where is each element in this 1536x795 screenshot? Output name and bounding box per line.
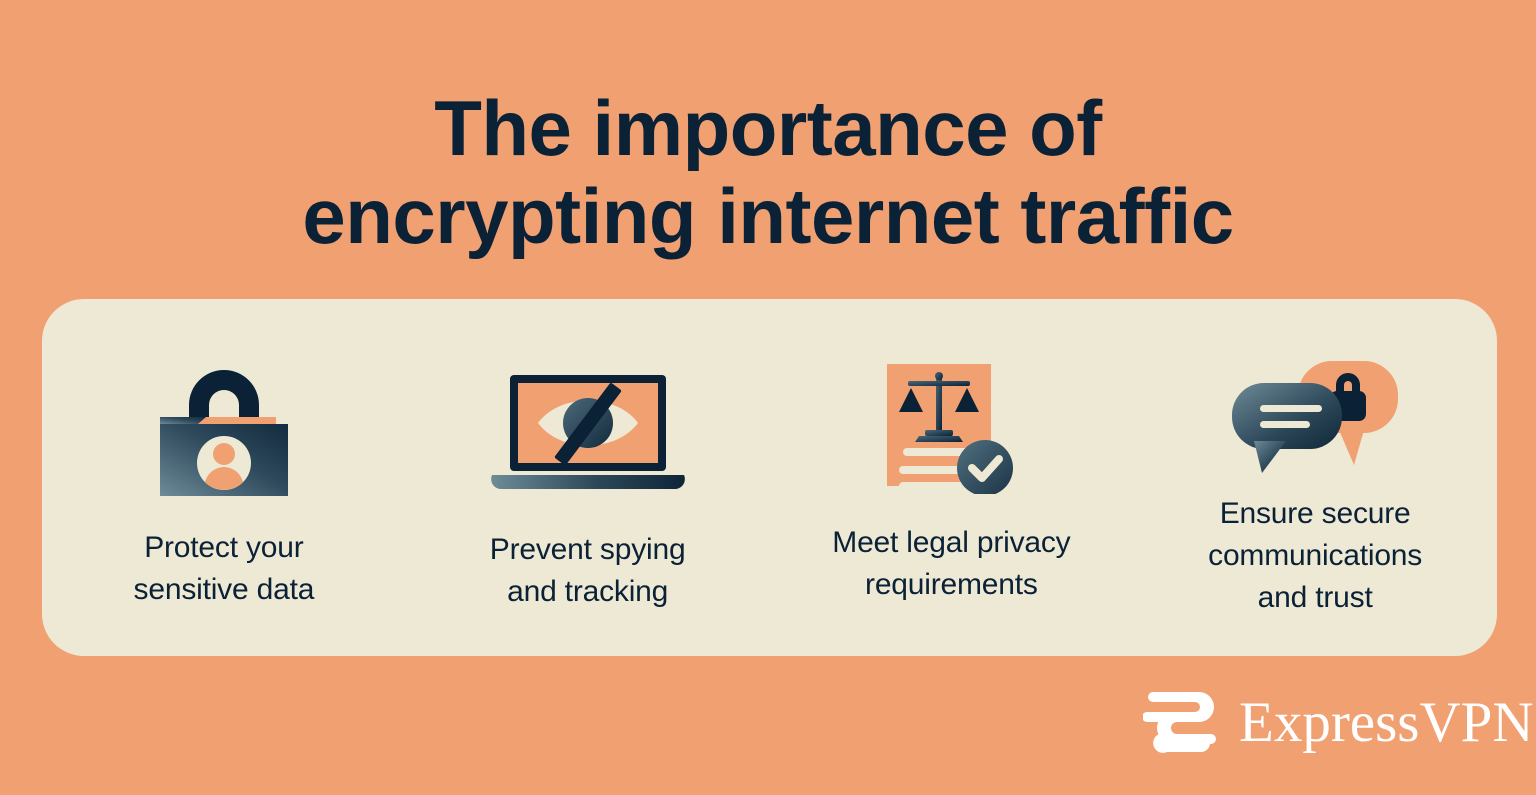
- expressvpn-wordmark: ExpressVPN: [1239, 694, 1534, 751]
- laptop-eye-slash-icon: [406, 371, 770, 493]
- secure-chat-bubbles-icon: [1133, 361, 1497, 473]
- feature-caption: Prevent spying and tracking: [490, 529, 686, 613]
- feature-item-legal-privacy: Meet legal privacy requirements: [770, 299, 1134, 656]
- feature-caption: Meet legal privacy requirements: [832, 522, 1070, 606]
- infographic-poster: The importance of encrypting internet tr…: [0, 0, 1536, 795]
- legal-document-check-icon-svg: [881, 362, 1021, 494]
- expressvpn-logo: ExpressVPN: [1143, 690, 1534, 754]
- legal-document-check-icon: [770, 362, 1134, 494]
- feature-caption: Protect your sensitive data: [134, 527, 315, 611]
- page-title: The importance of encrypting internet tr…: [0, 84, 1536, 260]
- feature-item-prevent-spying: Prevent spying and tracking: [406, 299, 770, 656]
- laptop-eye-slash-icon-svg: [480, 371, 696, 493]
- feature-caption: Ensure secure communications and trust: [1208, 493, 1422, 619]
- expressvpn-e-mark-icon: [1143, 690, 1221, 754]
- padlock-user-icon-svg: [154, 361, 294, 496]
- padlock-user-icon: [42, 361, 406, 496]
- feature-item-protect-data: Protect your sensitive data: [42, 299, 406, 656]
- features-card: Protect your sensitive data: [42, 299, 1497, 656]
- secure-chat-bubbles-icon-svg: [1232, 361, 1398, 473]
- feature-item-secure-communications: Ensure secure communications and trust: [1133, 299, 1497, 656]
- teal-chat-bubble: [1232, 383, 1342, 473]
- features-row: Protect your sensitive data: [42, 299, 1497, 656]
